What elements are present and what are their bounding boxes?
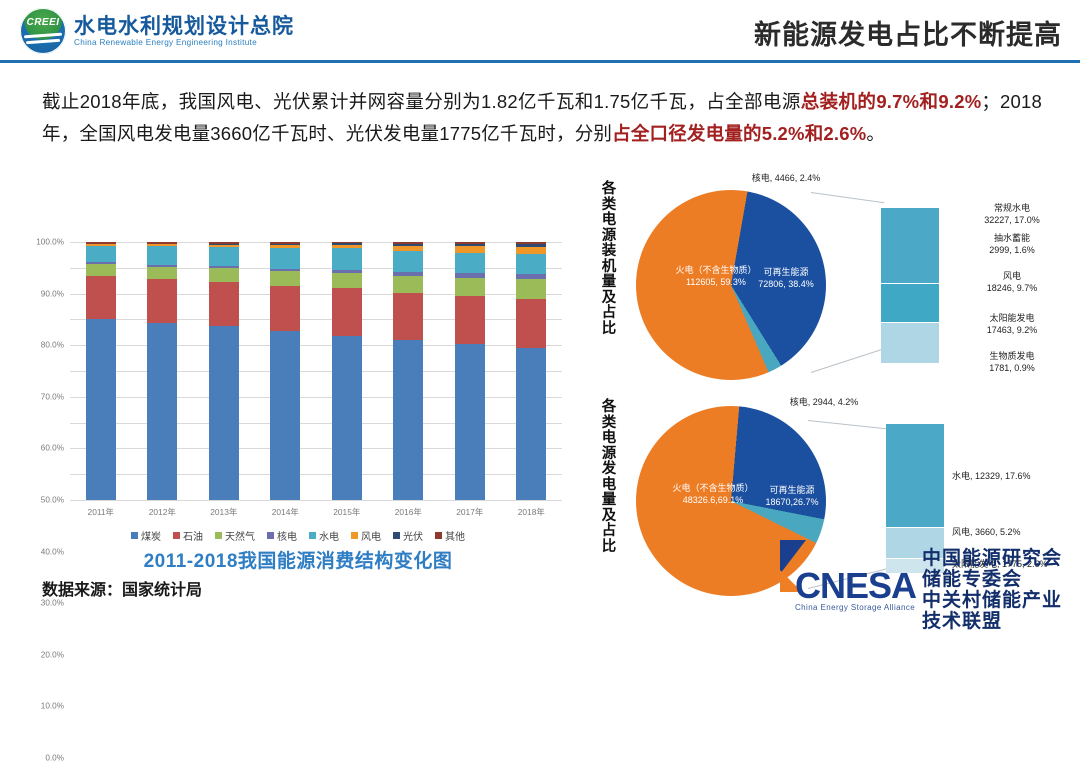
header-divider [0,60,1080,63]
renewable-breakdown-bar-top [881,208,939,364]
x-axis-label: 2011年 [79,506,123,518]
bar-segment-煤炭 [455,344,485,500]
bar-segment-风电 [516,247,546,254]
bar-column [393,242,423,500]
pie-bottom-connector-upper [808,420,890,430]
paragraph-part-3: 。 [866,123,885,144]
breakdown-value: 18246, 9.7% [987,283,1038,293]
legend-item-天然气[interactable]: 天然气 [215,528,255,543]
installed-capacity-pie-block: 各类电源装机量及占比 火电（不含生物质） 112605, 59.3% 可再生能源… [596,172,1080,392]
legend-label: 石油 [183,528,203,543]
breakdown-label: 抽水蓄能2999, 1.6% [948,232,1076,256]
bar-chart-legend: 煤炭石油天然气核电水电风电光伏其他 [18,528,578,543]
bar-segment-石油 [516,299,546,348]
cnesa-chinese-block: 中国能源研究会储能专委会 中关村储能产业技术联盟 [922,548,1080,632]
legend-swatch-icon [173,532,180,539]
cnesa-cn-line-2: 中关村储能产业技术联盟 [922,590,1080,632]
bar-segment-石油 [455,296,485,345]
bar-segment-石油 [86,276,116,319]
x-axis-label: 2012年 [140,506,184,518]
bar-segment-水电 [147,246,177,265]
gridline: 0.0% [70,500,562,501]
creei-logo-icon: CREEI [20,8,66,54]
bar-segment-煤炭 [516,348,546,500]
breakdown-name: 生物质发电 [989,351,1034,361]
legend-label: 煤炭 [141,528,161,543]
bar-segment-石油 [270,286,300,331]
bar-segment-石油 [147,279,177,323]
breakdown-value: 32227, 17.0% [984,215,1040,225]
x-axis-label: 2014年 [263,506,307,518]
legend-label: 风电 [361,528,381,543]
source-note: 数据来源：国家统计局 [42,576,202,600]
bar-segment-煤炭 [270,331,300,500]
bar-column [86,242,116,500]
breakdown-value: 2999, 1.6% [989,245,1035,255]
y-axis-tick: 0.0% [45,754,64,763]
highlight-generation-share: 占全口径发电量的5.2%和2.6% [612,123,866,144]
x-axis-label: 2017年 [448,506,492,518]
bar-column [332,242,362,500]
bar-segment-天然气 [455,278,485,296]
pie-top-connector-lower [811,349,882,373]
pie-bottom-nuclear-callout: 核电, 2944, 4.2% [744,396,904,408]
renewable-name: 可再生能源 [763,267,808,277]
breakdown-name: 太阳能发电 [989,313,1034,323]
bar-segment-煤炭 [147,323,177,500]
breakdown-label: 水电, 12329, 17.6% [952,470,1080,482]
breakdown-segment [881,284,939,323]
thermal-name-b: 火电（不含生物质） [672,483,753,493]
pie-top-connector-upper [811,192,884,203]
breakdown-name: 常规水电 [994,203,1030,213]
bar-segment-煤炭 [209,326,239,500]
y-axis-tick: 60.0% [41,444,64,453]
y-axis-tick: 100.0% [36,238,64,247]
cnesa-cn-line-1: 中国能源研究会储能专委会 [922,548,1080,590]
renewable-value: 72806, 38.4% [758,279,814,289]
breakdown-label: 风电18246, 9.7% [948,270,1076,294]
bar-column [455,242,485,500]
legend-item-风电[interactable]: 风电 [351,528,381,543]
x-axis-label: 2013年 [202,506,246,518]
bar-group [70,242,562,500]
pie-bottom-slice-renewable-label: 可再生能源 18670,26.7% [744,484,840,508]
renewable-name-b: 可再生能源 [769,485,814,495]
bar-segment-水电 [86,246,116,262]
bar-chart-plot-area: 100.0%90.0%80.0%70.0%60.0%50.0%40.0%30.0… [70,242,562,500]
pie-top-nuclear-callout: 核电, 4466, 2.4% [706,172,866,184]
legend-swatch-icon [393,532,400,539]
pie-top-slice-renewable-label: 可再生能源 72806, 38.4% [736,266,836,290]
org-name-en: China Renewable Energy Engineering Insti… [74,38,294,47]
breakdown-value: 17463, 9.2% [987,325,1038,335]
cnesa-wordmark: CNESA [795,569,916,603]
breakdown-label: 常规水电32227, 17.0% [948,202,1076,226]
bar-segment-煤炭 [86,319,116,500]
breakdown-label: 生物质发电1781, 0.9% [948,350,1076,374]
bar-segment-水电 [209,247,239,266]
page-header: CREEI 水电水利规划设计总院 China Renewable Energy … [0,0,1080,60]
highlight-capacity-share: 总装机的9.7%和9.2% [801,91,982,112]
bar-chart-x-axis: 2011年2012年2013年2014年2015年2016年2017年2018年 [70,506,562,518]
legend-label: 核电 [277,528,297,543]
breakdown-label: 太阳能发电17463, 9.2% [948,312,1076,336]
legend-swatch-icon [435,532,442,539]
legend-item-核电[interactable]: 核电 [267,528,297,543]
bar-segment-煤炭 [393,340,423,500]
legend-label: 水电 [319,528,339,543]
cnesa-subtitle: China Energy Storage Alliance [795,603,916,612]
cnesa-watermark: CNESA China Energy Storage Alliance 中国能源… [795,548,1080,632]
bar-segment-水电 [516,254,546,274]
legend-swatch-icon [215,532,222,539]
bar-segment-石油 [209,282,239,326]
installed-capacity-vertical-label: 各类电源装机量及占比 [596,182,622,337]
bar-segment-天然气 [332,273,362,288]
body-paragraph: 截止2018年底，我国风电、光伏累计并网容量分别为1.82亿千瓦和1.75亿千瓦… [42,86,1042,150]
legend-label: 天然气 [225,528,255,543]
bar-segment-天然气 [393,276,423,293]
logo-text: 水电水利规划设计总院 China Renewable Energy Engine… [74,15,294,48]
x-axis-label: 2015年 [325,506,369,518]
bar-segment-石油 [332,288,362,335]
legend-label: 光伏 [403,528,423,543]
breakdown-name: 抽水蓄能 [994,233,1030,243]
legend-label: 其他 [445,528,465,543]
y-axis-tick: 20.0% [41,650,64,659]
bar-segment-煤炭 [332,336,362,500]
breakdown-segment [881,208,939,284]
x-axis-label: 2018年 [509,506,553,518]
y-axis-tick: 50.0% [41,496,64,505]
wave-icon-2 [26,39,60,44]
legend-item-石油[interactable]: 石油 [173,528,203,543]
breakdown-label: 风电, 3660, 5.2% [952,526,1080,538]
paragraph-part-1: 截止2018年底，我国风电、光伏累计并网容量分别为1.82亿千瓦和1.75亿千瓦… [42,91,801,112]
breakdown-segment [886,424,944,528]
bar-column [270,242,300,500]
bar-segment-天然气 [147,267,177,279]
legend-item-水电[interactable]: 水电 [309,528,339,543]
creei-logo: CREEI 水电水利规划设计总院 China Renewable Energy … [20,8,294,54]
bar-segment-天然气 [209,268,239,282]
y-axis-tick: 30.0% [41,599,64,608]
x-axis-label: 2016年 [386,506,430,518]
legend-swatch-icon [309,532,316,539]
bar-chart-title: 2011-2018我国能源消费结构变化图 [18,546,578,573]
renewable-value-b: 18670,26.7% [765,497,818,507]
bar-column [516,242,546,500]
bar-segment-天然气 [516,279,546,299]
bar-segment-天然气 [270,271,300,286]
page-title: 新能源发电占比不断提高 [754,13,1062,52]
thermal-value-b: 48326.6,69.1% [683,495,744,505]
y-axis-tick: 70.0% [41,392,64,401]
y-axis-tick: 90.0% [41,289,64,298]
generation-vertical-label: 各类电源发电量及占比 [596,400,622,555]
legend-item-其他[interactable]: 其他 [435,528,465,543]
bar-segment-石油 [393,293,423,340]
creei-abbr: CREEI [20,17,66,28]
legend-swatch-icon [131,532,138,539]
bar-column [209,242,239,500]
legend-swatch-icon [351,532,358,539]
y-axis-tick: 10.0% [41,702,64,711]
bar-segment-水电 [393,251,423,272]
breakdown-name: 风电 [1003,271,1021,281]
legend-item-光伏[interactable]: 光伏 [393,528,423,543]
wave-icon [24,33,62,39]
bar-segment-水电 [455,253,485,274]
cnesa-logo-text: CNESA China Energy Storage Alliance [795,569,916,612]
energy-consumption-bar-chart: 100.0%90.0%80.0%70.0%60.0%50.0%40.0%30.0… [18,236,578,526]
org-name-cn: 水电水利规划设计总院 [74,15,294,39]
legend-swatch-icon [267,532,274,539]
breakdown-value: 1781, 0.9% [989,363,1035,373]
bar-segment-天然气 [86,264,116,276]
bar-segment-水电 [332,248,362,270]
bar-column [147,242,177,500]
legend-item-煤炭[interactable]: 煤炭 [131,528,161,543]
y-axis-tick: 80.0% [41,341,64,350]
bar-segment-水电 [270,248,300,269]
breakdown-segment [881,323,939,364]
